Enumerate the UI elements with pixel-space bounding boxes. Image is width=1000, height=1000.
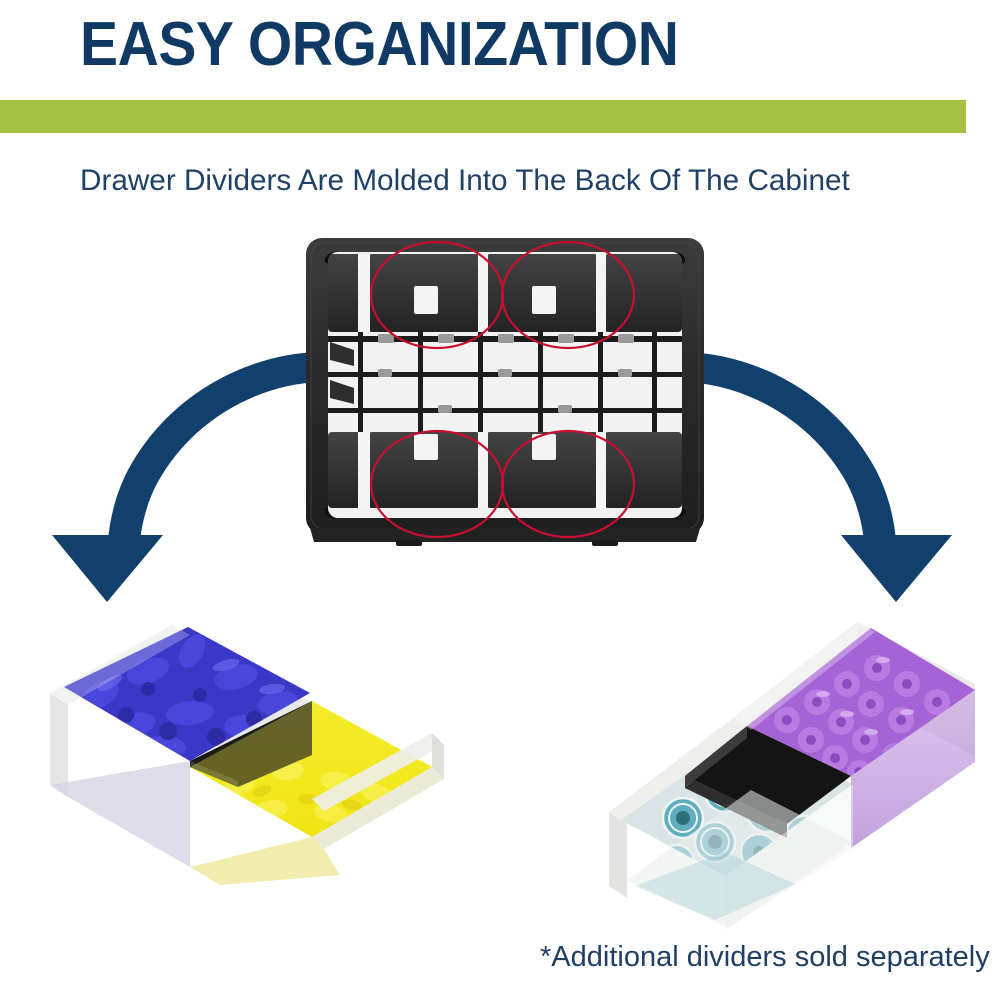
subtitle: Drawer Dividers Are Molded Into The Back…: [80, 163, 850, 199]
right-drawer: [565, 580, 995, 930]
left-drawer: [40, 585, 480, 915]
right-curved-arrow: [684, 352, 952, 602]
cabinet-interior: [328, 252, 682, 518]
page-title: EASY ORGANIZATION: [80, 14, 679, 76]
footnote: *Additional dividers sold separately: [540, 940, 990, 974]
accent-bar: [0, 100, 966, 133]
cabinet-back-image: [300, 232, 710, 552]
infographic-root: EASY ORGANIZATION Drawer Dividers Are Mo…: [0, 0, 1000, 1000]
left-curved-arrow: [52, 352, 320, 602]
